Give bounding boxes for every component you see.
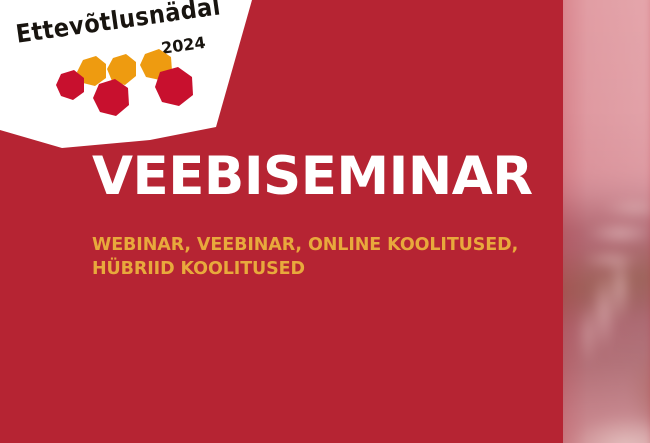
logo-heptagon-cluster-icon <box>55 48 215 126</box>
page-subtitle-line-1: WEBINAR, VEEBINAR, ONLINE KOOLITUSED, <box>92 233 592 257</box>
photo-red-tint-overlay <box>560 0 650 443</box>
page-subtitle: WEBINAR, VEEBINAR, ONLINE KOOLITUSED, HÜ… <box>92 233 592 281</box>
page-title: VEEBISEMINAR <box>92 150 533 203</box>
webinar-banner: Ettevõtlusnädal 2024 VEEBISEMINAR WEBINA… <box>0 0 650 443</box>
page-subtitle-line-2: HÜBRIID KOOLITUSED <box>92 257 592 281</box>
office-interior-photo <box>560 0 650 443</box>
red-heptagon-3-icon <box>155 67 193 106</box>
